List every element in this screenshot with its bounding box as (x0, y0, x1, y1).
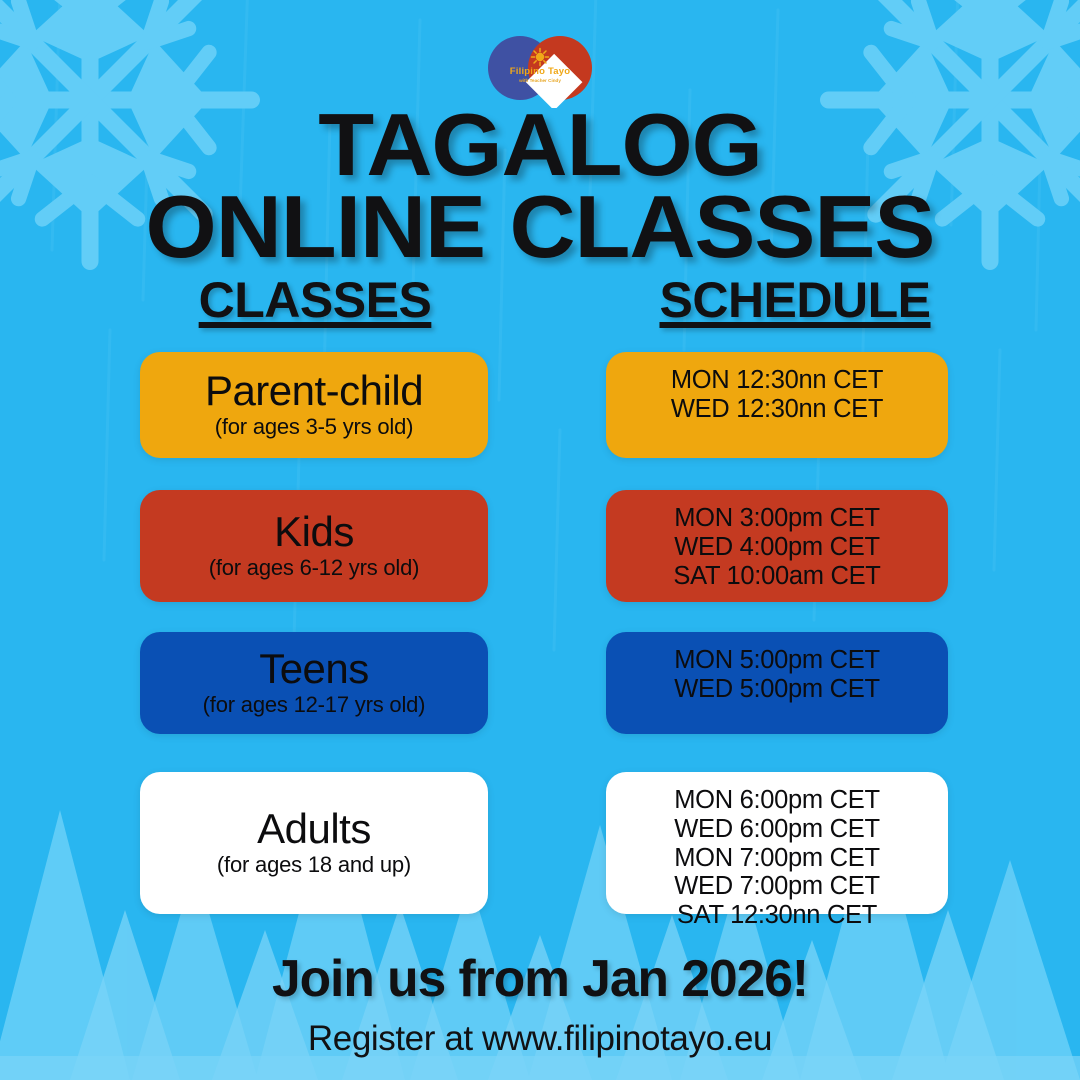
class-name: Teens (259, 648, 369, 690)
class-name: Adults (257, 808, 371, 850)
page-title: TAGALOG ONLINE CLASSES (0, 104, 1080, 268)
schedule-line: WED 4:00pm CET (674, 533, 880, 562)
table-row: Parent-child(for ages 3-5 yrs old)MON 12… (0, 352, 1080, 458)
page-title-line1: TAGALOG (0, 104, 1080, 186)
register-text: Register at www.filipinotayo.eu (0, 1021, 1080, 1056)
class-card[interactable]: Teens(for ages 12-17 yrs old) (140, 632, 488, 734)
logo-tagline: with Teacher Cindy (519, 78, 561, 83)
table-row: Adults(for ages 18 and up)MON 6:00pm CET… (0, 772, 1080, 914)
schedule-line: WED 7:00pm CET (674, 872, 880, 901)
table-row: Kids(for ages 6-12 yrs old)MON 3:00pm CE… (0, 490, 1080, 602)
schedule-line: MON 3:00pm CET (674, 504, 880, 533)
footer: Join us from Jan 2026! Register at www.f… (0, 953, 1080, 1056)
schedule-card[interactable]: MON 3:00pm CETWED 4:00pm CETSAT 10:00am … (606, 490, 948, 602)
classes-column-header: CLASSES (80, 271, 550, 329)
sun-icon (532, 49, 549, 66)
schedule-column-header: SCHEDULE (560, 271, 1030, 329)
schedule-card[interactable]: MON 6:00pm CETWED 6:00pm CETMON 7:00pm C… (606, 772, 948, 914)
class-name: Kids (274, 511, 354, 553)
class-card[interactable]: Kids(for ages 6-12 yrs old) (140, 490, 488, 602)
schedule-line: MON 12:30nn CET (671, 366, 883, 395)
class-age-range: (for ages 18 and up) (217, 852, 411, 877)
poster-canvas: Filipino Tayo with Teacher Cindy TAGALOG… (0, 0, 1080, 1080)
schedule-line: MON 7:00pm CET (674, 844, 880, 873)
class-age-range: (for ages 6-12 yrs old) (209, 555, 420, 580)
column-headers: CLASSES SCHEDULE (0, 271, 1080, 329)
schedule-line: SAT 12:30nn CET (677, 901, 877, 930)
class-name: Parent-child (205, 370, 423, 412)
class-card[interactable]: Parent-child(for ages 3-5 yrs old) (140, 352, 488, 458)
schedule-line: WED 6:00pm CET (674, 815, 880, 844)
logo-wordmark: Filipino Tayo (510, 66, 570, 77)
cta-text: Join us from Jan 2026! (5, 953, 1074, 1005)
schedule-line: WED 12:30nn CET (671, 395, 883, 424)
class-age-range: (for ages 3-5 yrs old) (215, 414, 414, 439)
table-row: Teens(for ages 12-17 yrs old)MON 5:00pm … (0, 632, 1080, 734)
schedule-line: WED 5:00pm CET (674, 675, 880, 704)
schedule-line: MON 5:00pm CET (674, 646, 880, 675)
class-card[interactable]: Adults(for ages 18 and up) (140, 772, 488, 914)
schedule-card[interactable]: MON 5:00pm CETWED 5:00pm CET (606, 632, 948, 734)
class-age-range: (for ages 12-17 yrs old) (203, 692, 426, 717)
schedule-card[interactable]: MON 12:30nn CETWED 12:30nn CET (606, 352, 948, 458)
page-title-line2: ONLINE CLASSES (0, 186, 1080, 268)
schedule-line: SAT 10:00am CET (673, 562, 880, 591)
schedule-line: MON 6:00pm CET (674, 786, 880, 815)
class-schedule-table: Parent-child(for ages 3-5 yrs old)MON 12… (0, 352, 1080, 914)
